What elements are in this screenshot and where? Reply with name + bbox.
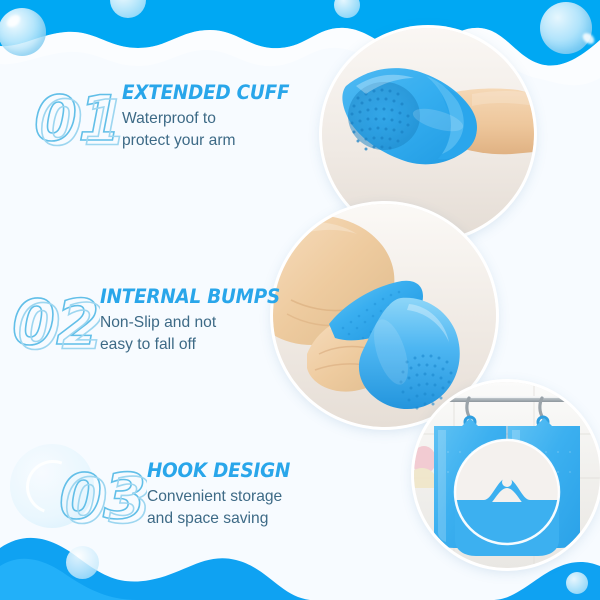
feature-item-02: 02 02 INTERNAL BUMPS Non-Slip and not ea…	[8, 278, 291, 364]
feature-text-02: INTERNAL BUMPS Non-Slip and not easy to …	[100, 278, 291, 355]
feature-text-03: HOOK DESIGN Convenient storage and space…	[147, 452, 299, 529]
feature-description-02: Non-Slip and not easy to fall off	[100, 312, 291, 354]
bubble-decoration	[0, 8, 46, 56]
feature-title-01: EXTENDED CUFF	[122, 82, 289, 103]
bubble-decoration	[66, 546, 99, 579]
bubble-decoration	[540, 2, 592, 54]
feature-number-03: 03 03	[55, 452, 147, 538]
feature-text-01: EXTENDED CUFF Waterproof to protect your…	[122, 74, 300, 151]
svg-text:02: 02	[18, 291, 101, 364]
bubble-decoration	[110, 0, 146, 18]
svg-text:01: 01	[40, 87, 123, 160]
bubble-highlight	[581, 31, 597, 46]
feature-item-01: 01 01 EXTENDED CUFF Waterproof to protec…	[30, 74, 300, 160]
feature-number-02: 02 02	[8, 278, 100, 364]
bubble-highlight	[5, 12, 23, 29]
feature-item-03: 03 03 HOOK DESIGN Convenient storage and…	[55, 452, 299, 538]
feature-description-01: Waterproof to protect your arm	[122, 108, 300, 150]
svg-text:03: 03	[65, 465, 148, 538]
feature-title-03: HOOK DESIGN	[147, 460, 290, 481]
feature-title-02: INTERNAL BUMPS	[100, 286, 280, 307]
feature-description-03: Convenient storage and space saving	[147, 486, 299, 528]
bubble-decoration	[334, 0, 360, 18]
product-infographic: 01 01 EXTENDED CUFF Waterproof to protec…	[0, 0, 600, 600]
bubble-decoration	[566, 572, 588, 594]
feature-number-01: 01 01	[30, 74, 122, 160]
photo-hook-design	[414, 382, 600, 568]
